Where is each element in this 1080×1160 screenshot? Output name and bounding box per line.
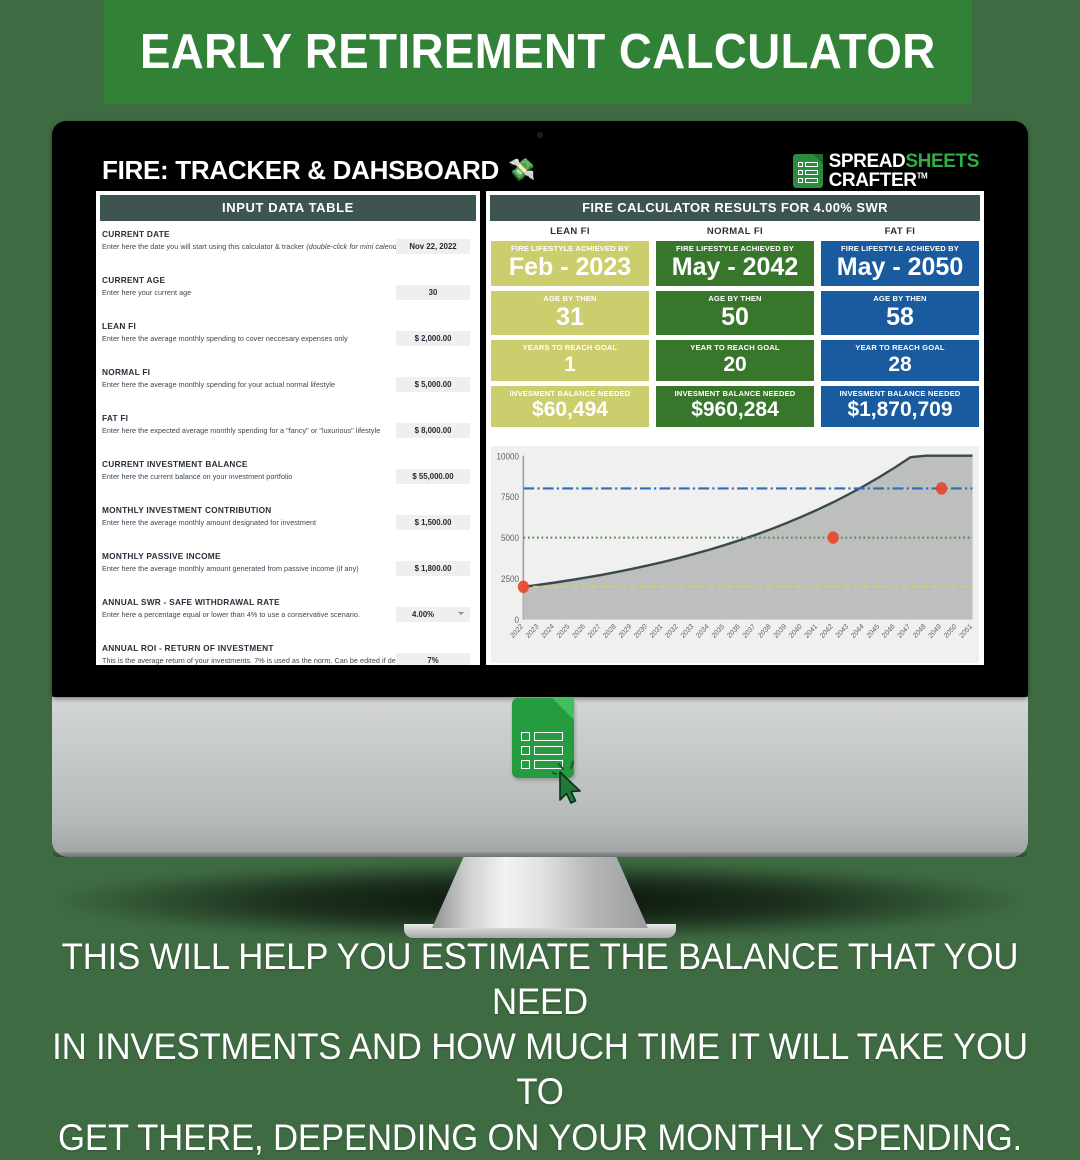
input-row-label: MONTHLY PASSIVE INCOME: [102, 551, 474, 561]
result-column-title: LEAN FI: [491, 223, 649, 241]
result-card: YEARS TO REACH GOAL1: [491, 340, 649, 381]
input-value-field[interactable]: $ 8,000.00: [396, 423, 470, 438]
result-column: LEAN FIFIRE LIFESTYLE ACHIEVED BYFeb - 2…: [491, 223, 649, 432]
result-card: INVESMENT BALANCE NEEDED$60,494: [491, 386, 649, 427]
input-row: ANNUAL ROI - RETURN OF INVESTMENTThis is…: [102, 643, 474, 665]
input-value-field[interactable]: $ 5,000.00: [396, 377, 470, 392]
input-row-label: NORMAL FI: [102, 367, 474, 377]
result-card: YEAR TO REACH GOAL28: [821, 340, 979, 381]
input-row-label: CURRENT INVESTMENT BALANCE: [102, 459, 474, 469]
input-row-label: CURRENT DATE: [102, 229, 474, 239]
result-card-label: AGE BY THEN: [493, 294, 647, 303]
input-row-label: MONTHLY INVESTMENT CONTRIBUTION: [102, 505, 474, 515]
input-row: FAT FIEnter here the expected average mo…: [102, 413, 474, 447]
svg-text:2500: 2500: [501, 574, 519, 585]
results-panel: FIRE CALCULATOR RESULTS FOR 4.00% SWR LE…: [486, 191, 984, 665]
result-column-title: FAT FI: [821, 223, 979, 241]
monitor-stand: [432, 855, 648, 928]
projection-chart: 0250050007500100002022202320242025202620…: [491, 446, 979, 663]
results-panel-header: FIRE CALCULATOR RESULTS FOR 4.00% SWR: [490, 195, 980, 221]
mouse-cursor-icon: [552, 760, 592, 808]
result-card-value: 1: [493, 354, 647, 376]
input-value-field[interactable]: $ 1,500.00: [396, 515, 470, 530]
input-row-label: ANNUAL SWR - SAFE WITHDRAWAL RATE: [102, 597, 474, 607]
chevron-down-icon[interactable]: [458, 612, 464, 615]
result-card-value: $1,870,709: [823, 399, 977, 421]
result-card-label: INVESMENT BALANCE NEEDED: [823, 389, 977, 398]
input-value-field[interactable]: Nov 22, 2022: [396, 239, 470, 254]
input-row-label: FAT FI: [102, 413, 474, 423]
result-column-title: NORMAL FI: [656, 223, 814, 241]
result-card-value: 58: [823, 304, 977, 330]
result-card: FIRE LIFESTYLE ACHIEVED BYMay - 2050: [821, 241, 979, 286]
input-rows-container: CURRENT DATEEnter here the date you will…: [96, 221, 480, 665]
logo-spread-text: SPREAD: [829, 151, 906, 172]
input-row: MONTHLY PASSIVE INCOMEEnter here the ave…: [102, 551, 474, 585]
result-card-value: May - 2042: [658, 254, 812, 280]
logo-tm: TM: [917, 172, 928, 181]
result-card-label: YEARS TO REACH GOAL: [493, 343, 647, 352]
results-columns: LEAN FIFIRE LIFESTYLE ACHIEVED BYFeb - 2…: [486, 223, 984, 432]
webcam-icon: [537, 132, 543, 138]
input-value-field[interactable]: 30: [396, 285, 470, 300]
input-panel-header: INPUT DATA TABLE: [100, 195, 476, 221]
result-card-label: FIRE LIFESTYLE ACHIEVED BY: [823, 244, 977, 253]
page-banner: EARLY RETIREMENT CALCULATOR: [104, 0, 972, 104]
input-row: CURRENT DATEEnter here the date you will…: [102, 229, 474, 263]
input-row: CURRENT INVESTMENT BALANCEEnter here the…: [102, 459, 474, 493]
logo-line-1: SPREADSHEETS: [829, 152, 979, 171]
svg-text:5000: 5000: [501, 533, 519, 544]
result-card-value: 50: [658, 304, 812, 330]
result-card-value: 31: [493, 304, 647, 330]
input-value-field[interactable]: $ 1,800.00: [396, 561, 470, 576]
input-dropdown[interactable]: 4.00%: [396, 607, 470, 622]
input-row: NORMAL FIEnter here the average monthly …: [102, 367, 474, 401]
result-card: FIRE LIFESTYLE ACHIEVED BYMay - 2042: [656, 241, 814, 286]
result-card-label: AGE BY THEN: [658, 294, 812, 303]
result-card-value: $960,284: [658, 399, 812, 421]
caption-block: THIS WILL HELP YOU ESTIMATE THE BALANCE …: [0, 934, 1080, 1160]
result-card-value: 20: [658, 354, 812, 376]
input-value-field[interactable]: 7%: [396, 653, 470, 665]
input-row: ANNUAL SWR - SAFE WITHDRAWAL RATEEnter h…: [102, 597, 474, 631]
page-title: EARLY RETIREMENT CALCULATOR: [140, 24, 936, 80]
svg-text:10000: 10000: [497, 451, 520, 462]
input-row: CURRENT AGEEnter here your current age30: [102, 275, 474, 309]
input-row: LEAN FIEnter here the average monthly sp…: [102, 321, 474, 355]
input-row: MONTHLY INVESTMENT CONTRIBUTIONEnter her…: [102, 505, 474, 539]
logo-line-2: CRAFTERTM: [829, 171, 979, 190]
svg-text:7500: 7500: [501, 492, 519, 503]
result-card-label: FIRE LIFESTYLE ACHIEVED BY: [658, 244, 812, 253]
spreadsheet-body: INPUT DATA TABLE CURRENT DATEEnter here …: [96, 191, 984, 665]
spreadsheet-title: FIRE: TRACKER & DAHSBOARD: [102, 155, 499, 186]
caption-line-3: GET THERE, DEPENDING ON YOUR MONTHLY SPE…: [32, 1115, 1047, 1160]
money-with-wings-icon: 💸: [508, 157, 535, 183]
projection-chart-svg: 0250050007500100002022202320242025202620…: [491, 446, 979, 663]
input-row-label: ANNUAL ROI - RETURN OF INVESTMENT: [102, 643, 474, 653]
result-card-label: YEAR TO REACH GOAL: [823, 343, 977, 352]
input-row-label: LEAN FI: [102, 321, 474, 331]
result-card-value: Feb - 2023: [493, 254, 647, 280]
input-value-field[interactable]: $ 55,000.00: [396, 469, 470, 484]
input-row-label: CURRENT AGE: [102, 275, 474, 285]
logo-crafter-text: CRAFTER: [829, 170, 917, 191]
result-card-label: FIRE LIFESTYLE ACHIEVED BY: [493, 244, 647, 253]
result-card: YEAR TO REACH GOAL20: [656, 340, 814, 381]
result-card-label: INVESMENT BALANCE NEEDED: [658, 389, 812, 398]
spreadsheet-header: FIRE: TRACKER & DAHSBOARD 💸 SPREADSHEETS…: [96, 149, 984, 191]
result-card: INVESMENT BALANCE NEEDED$1,870,709: [821, 386, 979, 427]
spreadsheet-doc-icon: [793, 154, 823, 188]
spreadsheet-screen: FIRE: TRACKER & DAHSBOARD 💸 SPREADSHEETS…: [96, 149, 984, 665]
result-card-label: AGE BY THEN: [823, 294, 977, 303]
result-card-value: $60,494: [493, 399, 647, 421]
result-card: INVESMENT BALANCE NEEDED$960,284: [656, 386, 814, 427]
result-column: FAT FIFIRE LIFESTYLE ACHIEVED BYMay - 20…: [821, 223, 979, 432]
result-card-label: INVESMENT BALANCE NEEDED: [493, 389, 647, 398]
result-card: FIRE LIFESTYLE ACHIEVED BYFeb - 2023: [491, 241, 649, 286]
caption-line-1: THIS WILL HELP YOU ESTIMATE THE BALANCE …: [32, 934, 1047, 1024]
logo-sheets-text: SHEETS: [905, 151, 979, 172]
monitor-frame: FIRE: TRACKER & DAHSBOARD 💸 SPREADSHEETS…: [52, 121, 1028, 697]
caption-line-2: IN INVESTMENTS AND HOW MUCH TIME IT WILL…: [32, 1024, 1047, 1114]
input-data-panel: INPUT DATA TABLE CURRENT DATEEnter here …: [96, 191, 486, 665]
result-card: AGE BY THEN50: [656, 291, 814, 336]
input-value-field[interactable]: $ 2,000.00: [396, 331, 470, 346]
result-card: AGE BY THEN31: [491, 291, 649, 336]
result-column: NORMAL FIFIRE LIFESTYLE ACHIEVED BYMay -…: [656, 223, 814, 432]
result-card-value: May - 2050: [823, 254, 977, 280]
result-card-value: 28: [823, 354, 977, 376]
result-card: AGE BY THEN58: [821, 291, 979, 336]
result-card-label: YEAR TO REACH GOAL: [658, 343, 812, 352]
brand-logo: SPREADSHEETS CRAFTERTM: [793, 152, 979, 190]
